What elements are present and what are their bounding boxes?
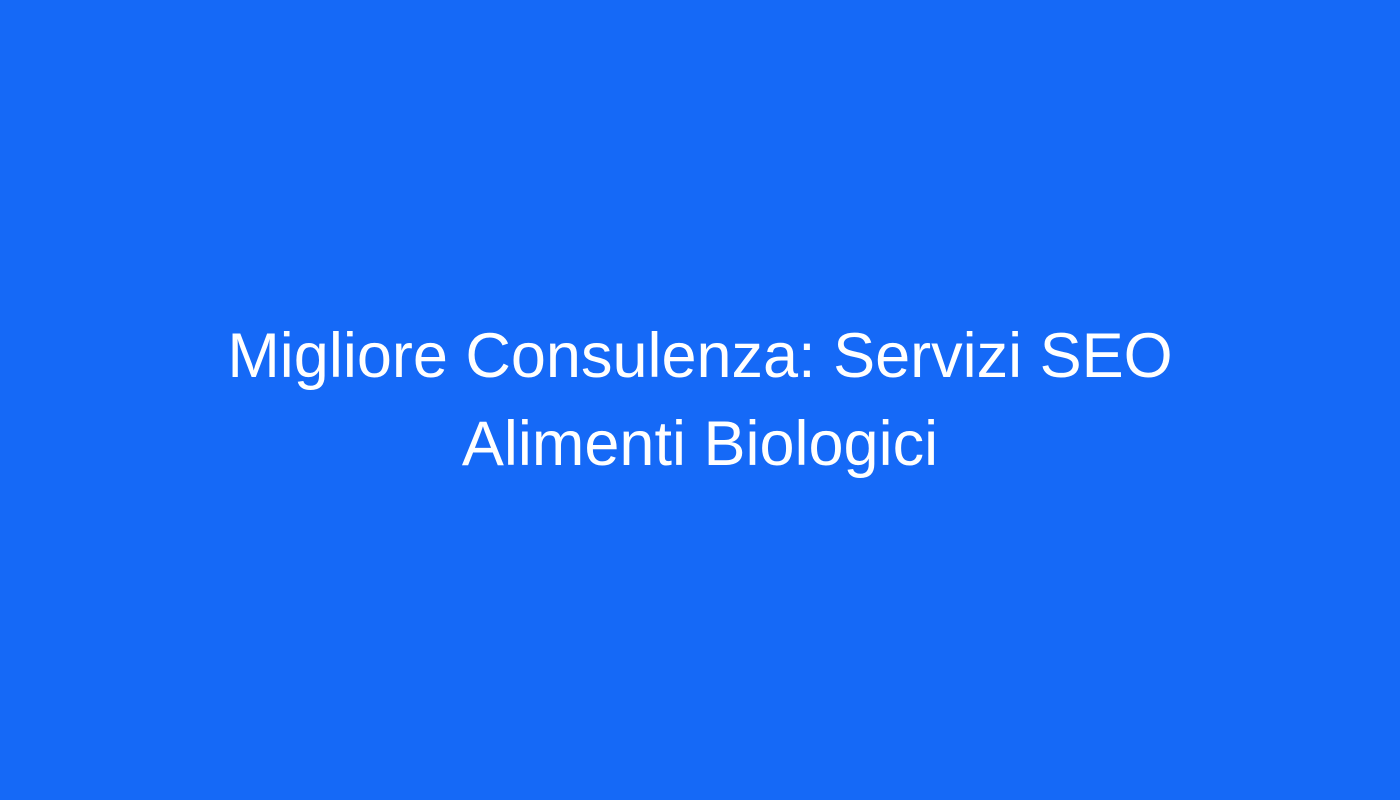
hero-content: Migliore Consulenza: Servizi SEO Aliment… [138,312,1262,488]
hero-banner: Migliore Consulenza: Servizi SEO Aliment… [0,0,1400,800]
page-title: Migliore Consulenza: Servizi SEO Aliment… [138,312,1262,488]
